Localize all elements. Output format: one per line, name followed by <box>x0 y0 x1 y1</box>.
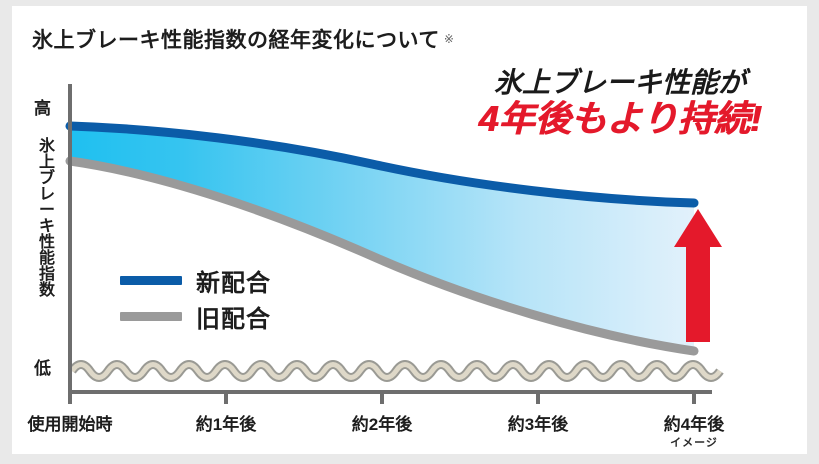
y-axis-title-char: 性 <box>36 235 58 251</box>
chart-legend: 新配合 旧配合 <box>120 262 271 334</box>
y-axis-title-char: ブ <box>36 171 58 187</box>
x-tick-label-2: 約2年後 <box>352 410 412 435</box>
x-tick-label-4: 約4年後 <box>664 410 724 435</box>
y-axis-title-char: ー <box>36 203 58 219</box>
y-axis-low-label: 低 <box>34 354 51 379</box>
x-tick-label-0: 使用開始時 <box>28 410 113 435</box>
legend-label-old-compound: 旧配合 <box>196 299 271 334</box>
y-axis-title-char: レ <box>36 187 58 203</box>
x-tick-label-3: 約3年後 <box>508 410 568 435</box>
performance-chart-plot <box>12 6 807 454</box>
y-axis-title-char: キ <box>36 219 58 235</box>
y-axis-high-label: 高 <box>34 94 51 119</box>
legend-swatch-old-compound <box>120 312 182 321</box>
y-axis-title-char: 数 <box>36 283 58 299</box>
y-axis-title-char: 氷 <box>36 139 58 155</box>
image-disclaimer-note: イメージ <box>670 434 718 450</box>
chart-card: 氷上ブレーキ性能指数の経年変化について※ 氷上ブレーキ性能が 4年後もより持続! <box>12 6 807 454</box>
y-axis-title-char: 上 <box>36 155 58 171</box>
y-axis-title-char: 指 <box>36 267 58 283</box>
y-axis-title: 氷 上 ブ レ ー キ 性 能 指 数 <box>36 139 58 299</box>
legend-swatch-new-compound <box>120 276 182 285</box>
y-axis-title-char: 能 <box>36 251 58 267</box>
legend-item-old-compound: 旧配合 <box>120 298 271 334</box>
legend-label-new-compound: 新配合 <box>196 263 271 298</box>
legend-item-new-compound: 新配合 <box>120 262 271 298</box>
x-tick-label-1: 約1年後 <box>196 410 256 435</box>
